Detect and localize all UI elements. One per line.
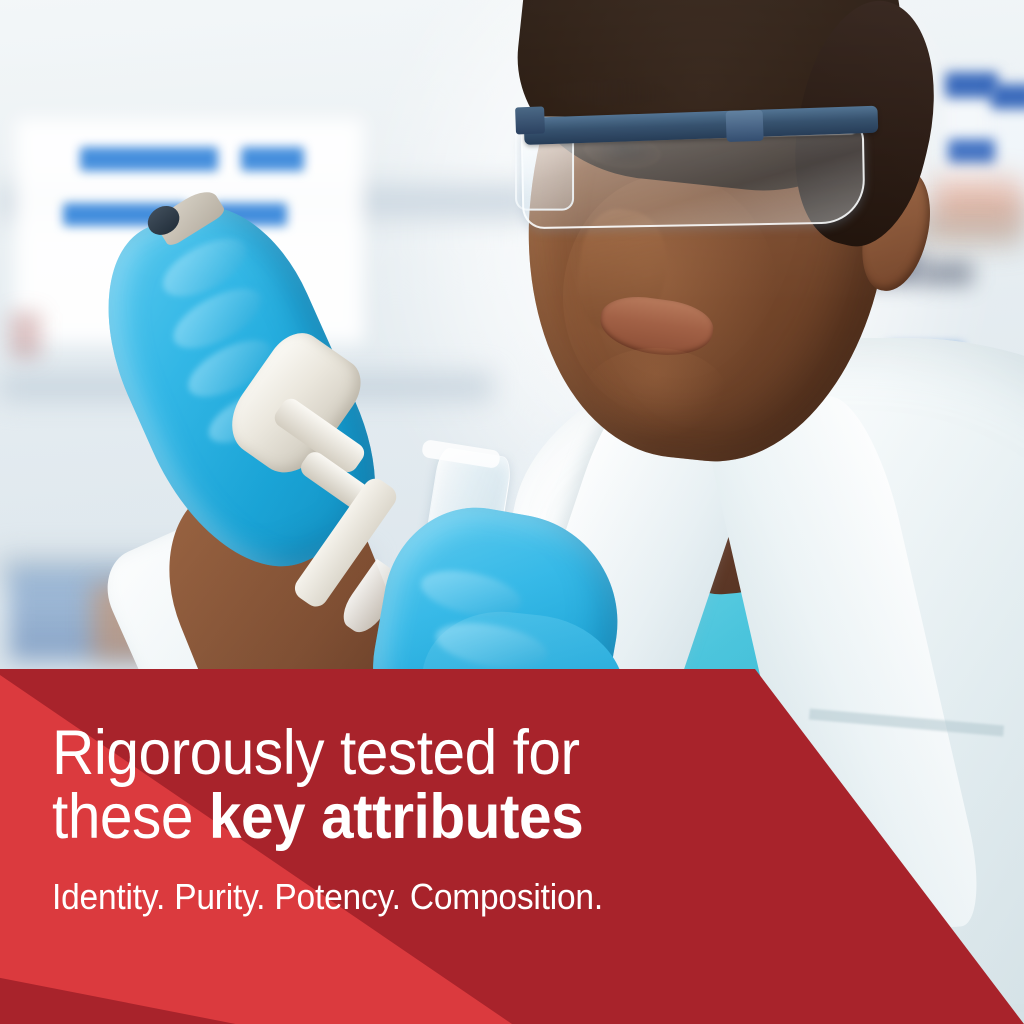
headline-line-1-text: Rigorously tested for: [52, 718, 580, 788]
safety-glasses-end-piece: [516, 106, 546, 134]
headline-line-2: these key attributes: [52, 785, 956, 849]
headline-line-2-thin-text: these: [52, 782, 209, 852]
subheadline: Identity. Purity. Potency. Composition.: [52, 876, 956, 918]
headline-line-2-bold-text: key attributes: [209, 782, 583, 852]
safety-glasses-hinge: [726, 110, 764, 142]
chin: [584, 348, 727, 440]
poster-root: Rigorously tested for these key attribut…: [0, 0, 1024, 1024]
safety-glasses: [507, 32, 895, 274]
